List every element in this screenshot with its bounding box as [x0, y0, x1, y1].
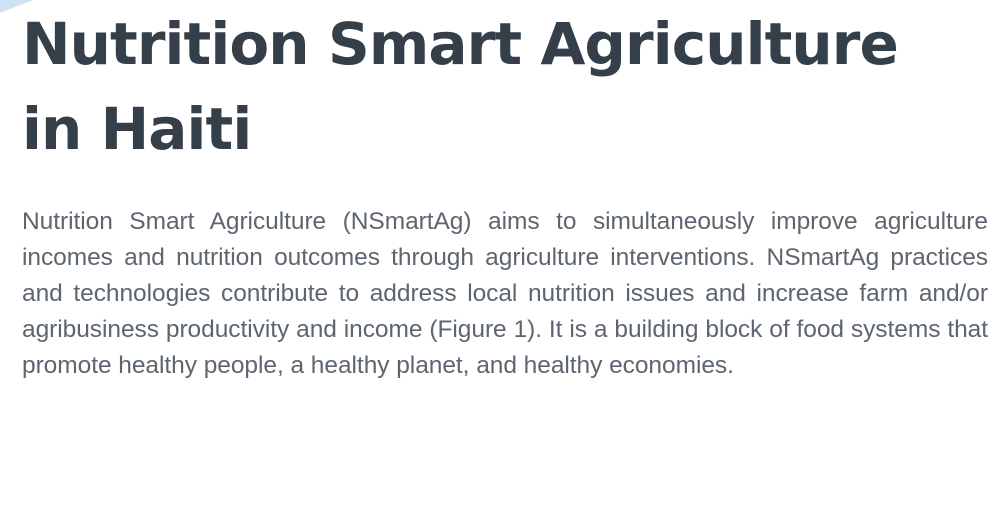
intro-paragraph: Nutrition Smart Agriculture (NSmartAg) a… — [22, 204, 988, 384]
page-title: Nutrition Smart Agriculture in Haiti — [22, 2, 988, 171]
document-page: Nutrition Smart Agriculture in Haiti Nut… — [0, 0, 1000, 505]
